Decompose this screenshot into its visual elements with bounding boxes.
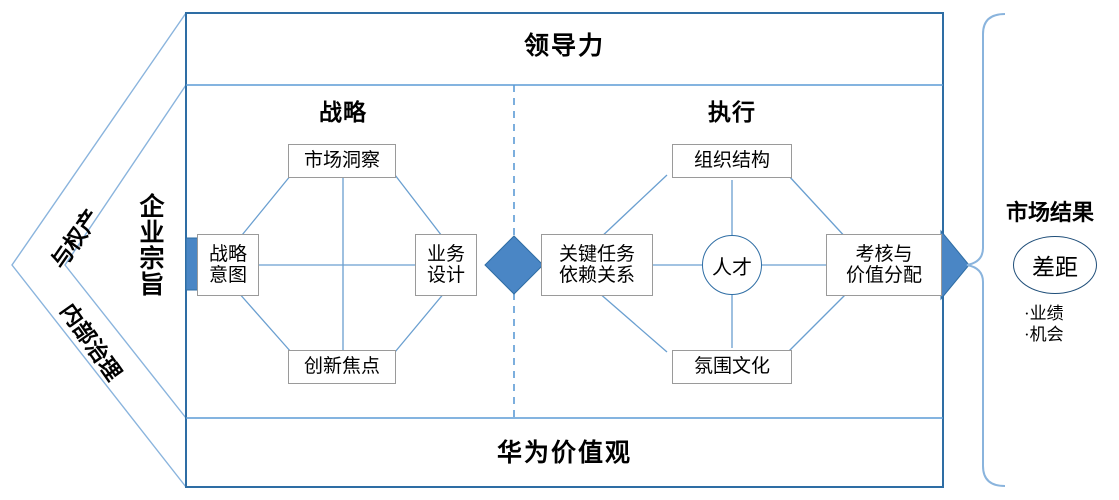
node-market-insight[interactable]: 市场洞察 [288, 144, 396, 178]
node-strategic-intent[interactable]: 战略 意图 [197, 234, 259, 296]
node-culture[interactable]: 氛围文化 [672, 350, 792, 384]
node-key-tasks[interactable]: 关键任务 依赖关系 [541, 234, 653, 296]
corporate-purpose-label: 企业宗旨 [131, 193, 167, 297]
node-org-structure[interactable]: 组织结构 [672, 144, 792, 178]
chevron-outer-label: 与权产 [42, 202, 106, 274]
strategy-section-title: 战略 [263, 100, 423, 126]
results-bullets: ·业绩 ·机会 [1024, 303, 1064, 346]
link-culture-appraisal [788, 292, 848, 352]
node-talent[interactable]: 人才 [702, 235, 762, 295]
link-intent-insight [238, 175, 291, 240]
diagram-canvas: 领导力 华为价值观 企业宗旨 与权产 内部治理 战略 市场洞察 战略 意图 业务… [0, 0, 1119, 500]
chevron-inner-label: 内部治理 [54, 296, 131, 386]
results-brace [967, 14, 1005, 486]
gap-ellipse[interactable]: 差距 [1013, 236, 1097, 294]
leadership-band-title: 领导力 [186, 33, 943, 61]
node-business-design[interactable]: 业务 设计 [415, 234, 477, 296]
node-innovation-focus[interactable]: 创新焦点 [288, 350, 396, 384]
market-results-title: 市场结果 [1006, 195, 1094, 227]
center-diamond-marker [485, 236, 543, 294]
results-arrow-marker [941, 231, 969, 299]
execution-section-title: 执行 [652, 100, 812, 126]
link-keytask-org [598, 175, 667, 240]
link-keytask-culture [598, 292, 667, 352]
values-band-title: 华为价值观 [186, 440, 943, 468]
link-innovation-design [395, 292, 445, 352]
node-appraisal-value[interactable]: 考核与 价值分配 [826, 234, 942, 296]
link-org-appraisal [788, 175, 848, 240]
link-intent-innovation [238, 292, 291, 352]
link-insight-design [395, 175, 445, 240]
